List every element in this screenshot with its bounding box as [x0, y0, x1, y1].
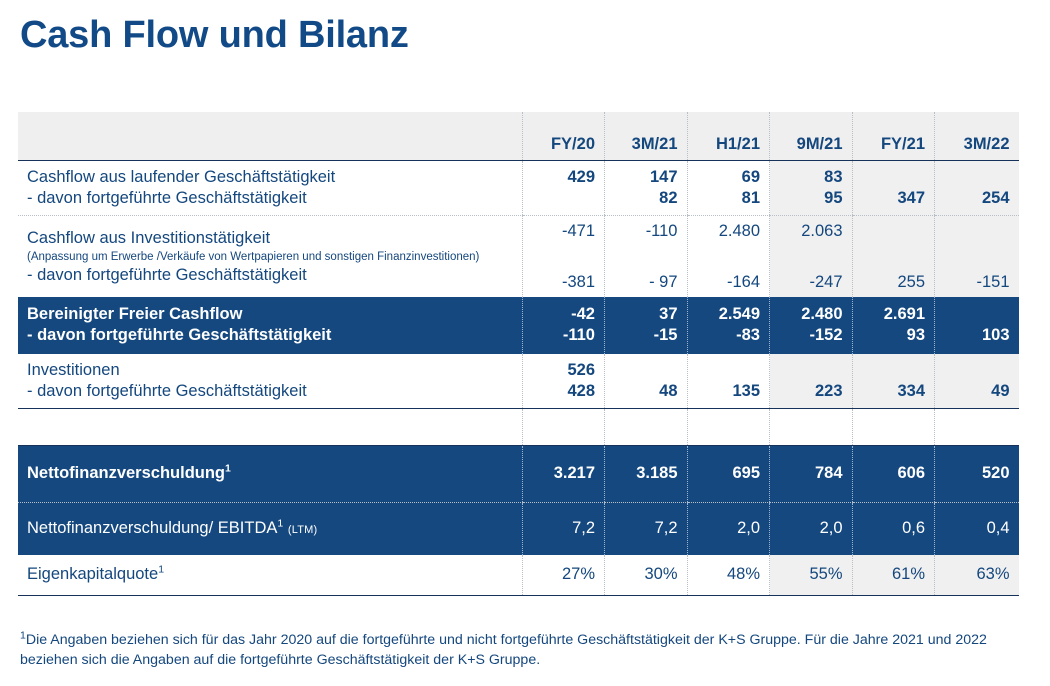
row-label-text: Nettofinanzverschuldung	[27, 464, 225, 482]
cell-equity-ratio-9m21: 55%	[770, 555, 853, 596]
table-row: Eigenkapitalquote1 27% 30% 48% 55% 61% 6…	[18, 555, 1019, 596]
cell-investments-3m21: 48	[605, 354, 688, 409]
value-line2: -151	[935, 272, 1010, 293]
value-line2: 347	[853, 188, 926, 209]
row-label-equity-ratio: Eigenkapitalquote1	[18, 555, 522, 596]
cell-net-debt-3m21: 3.185	[605, 445, 688, 502]
spacer-cell-label	[18, 408, 522, 445]
cell-equity-ratio-3m22: 63%	[935, 555, 1019, 596]
value-line1	[605, 360, 678, 381]
value-line2: 223	[770, 381, 843, 402]
cell-adjusted-free-cashflow-fy21: 2.691 93	[852, 297, 935, 353]
cell-cashflow-operating-h121: 69 81	[687, 161, 770, 216]
value-line2: 254	[935, 188, 1010, 209]
cell-cashflow-operating-3m21: 147 82	[605, 161, 688, 216]
value-line1: 147	[605, 167, 678, 188]
cell-adjusted-free-cashflow-3m21: 37 -15	[605, 297, 688, 353]
financial-table: FY/20 3M/21 H1/21 9M/21 FY/21 3M/22 Cash…	[18, 112, 1019, 596]
cell-net-debt-9m21: 784	[770, 445, 853, 502]
value-line2	[523, 188, 596, 209]
spacer-cell-9m21	[770, 408, 853, 445]
cell-net-debt-ebitda-3m22: 0,4	[935, 502, 1019, 555]
value-line1: 2.063	[770, 221, 843, 242]
row-label-line1: Investitionen	[27, 360, 522, 381]
cell-adjusted-free-cashflow-h121: 2.549 -83	[687, 297, 770, 353]
cell-adjusted-free-cashflow-fy20: -42 -110	[522, 297, 605, 353]
table-row: Bereinigter Freier Cashflow - davon fort…	[18, 297, 1019, 353]
row-label-line1: Cashflow aus Investitionstätigkeit	[27, 228, 522, 249]
cell-investments-h121: 135	[687, 354, 770, 409]
cell-equity-ratio-fy21: 61%	[852, 555, 935, 596]
cell-equity-ratio-3m21: 30%	[605, 555, 688, 596]
row-label-line1: Cashflow aus laufender Geschäftstätigkei…	[27, 167, 522, 188]
value-line2: 428	[523, 381, 596, 402]
value-line2: -247	[770, 272, 843, 293]
footnote-marker: 1	[158, 564, 164, 576]
value-line2: -15	[605, 325, 678, 346]
row-label-cashflow-investing: Cashflow aus Investitionstätigkeit (Anpa…	[18, 216, 522, 298]
value-line1: 526	[523, 360, 596, 381]
cell-cashflow-operating-3m22: 254	[935, 161, 1019, 216]
value-line2: 135	[688, 381, 761, 402]
table-row: Cashflow aus laufender Geschäftstätigkei…	[18, 161, 1019, 216]
cell-cashflow-operating-fy21: 347	[852, 161, 935, 216]
value-line2: -381	[523, 272, 596, 293]
value-line1: 429	[523, 167, 596, 188]
row-label-text: Eigenkapitalquote	[27, 565, 158, 583]
row-label-note: (Anpassung um Erwerbe /Verkäufe von Wert…	[27, 250, 522, 264]
cell-cashflow-operating-9m21: 83 95	[770, 161, 853, 216]
value-line1: 37	[605, 304, 678, 325]
spacer-cell-3m21	[605, 408, 688, 445]
value-line1	[935, 167, 1010, 188]
value-line2: 103	[935, 325, 1010, 346]
cell-net-debt-ebitda-9m21: 2,0	[770, 502, 853, 555]
value-line1	[935, 360, 1010, 381]
cell-adjusted-free-cashflow-9m21: 2.480 -152	[770, 297, 853, 353]
cell-net-debt-ebitda-fy21: 0,6	[852, 502, 935, 555]
cell-net-debt-3m22: 520	[935, 445, 1019, 502]
cell-cashflow-investing-fy21: xx 255	[852, 216, 935, 298]
table-header-row: FY/20 3M/21 H1/21 9M/21 FY/21 3M/22	[18, 112, 1019, 161]
row-label-line2: - davon fortgeführte Geschäftstätigkeit	[27, 381, 522, 402]
value-line2: 93	[853, 325, 926, 346]
row-label-net-debt-ebitda: Nettofinanzverschuldung/ EBITDA1 (LTM)	[18, 502, 522, 555]
footnote-marker: 1	[225, 463, 231, 475]
cell-cashflow-investing-fy20: -471 xx -381	[522, 216, 605, 298]
column-header-3m21: 3M/21	[605, 112, 688, 161]
cell-investments-fy21: 334	[852, 354, 935, 409]
cell-net-debt-fy20: 3.217	[522, 445, 605, 502]
spacer-cell-h121	[687, 408, 770, 445]
row-label-line2: - davon fortgeführte Geschäftstätigkeit	[27, 265, 522, 286]
cell-cashflow-operating-fy20: 429	[522, 161, 605, 216]
row-label-adjusted-free-cashflow: Bereinigter Freier Cashflow - davon fort…	[18, 297, 522, 353]
cell-net-debt-ebitda-fy20: 7,2	[522, 502, 605, 555]
cell-investments-3m22: 49	[935, 354, 1019, 409]
table-row: Nettofinanzverschuldung1 3.217 3.185 695…	[18, 445, 1019, 502]
cell-cashflow-investing-9m21: 2.063 xx -247	[770, 216, 853, 298]
value-line1: 69	[688, 167, 761, 188]
row-label-line2: - davon fortgeführte Geschäftstätigkeit	[27, 325, 522, 346]
value-line2: 81	[688, 188, 761, 209]
value-line1	[853, 167, 926, 188]
row-label-line2: - davon fortgeführte Geschäftstätigkeit	[27, 188, 522, 209]
column-header-9m21: 9M/21	[770, 112, 853, 161]
value-line1: -42	[523, 304, 596, 325]
value-line2: -110	[523, 325, 596, 346]
spacer-cell-3m22	[935, 408, 1019, 445]
table-row: Nettofinanzverschuldung/ EBITDA1 (LTM) 7…	[18, 502, 1019, 555]
value-line2: -83	[688, 325, 761, 346]
page-title: Cash Flow und Bilanz	[20, 14, 409, 57]
cell-cashflow-investing-h121: 2.480 xx -164	[687, 216, 770, 298]
value-line1: 2.480	[770, 304, 843, 325]
value-line1	[853, 221, 926, 242]
column-header-3m22: 3M/22	[935, 112, 1019, 161]
row-label-cashflow-operating: Cashflow aus laufender Geschäftstätigkei…	[18, 161, 522, 216]
value-line1	[770, 360, 843, 381]
value-line2: 255	[853, 272, 926, 293]
footnote-text: Die Angaben beziehen sich für das Jahr 2…	[20, 632, 987, 668]
value-line1	[688, 360, 761, 381]
column-header-h121: H1/21	[687, 112, 770, 161]
cell-investments-9m21: 223	[770, 354, 853, 409]
value-line1: 83	[770, 167, 843, 188]
cell-equity-ratio-fy20: 27%	[522, 555, 605, 596]
value-line2: 48	[605, 381, 678, 402]
column-header-label	[18, 112, 522, 161]
value-line2: 49	[935, 381, 1010, 402]
column-header-fy20: FY/20	[522, 112, 605, 161]
row-label-text: Nettofinanzverschuldung/ EBITDA	[27, 519, 277, 537]
spacer-cell-fy21	[852, 408, 935, 445]
value-line1	[853, 360, 926, 381]
value-line1: -471	[523, 221, 596, 242]
cell-equity-ratio-h121: 48%	[687, 555, 770, 596]
value-line2: -152	[770, 325, 843, 346]
cell-adjusted-free-cashflow-3m22: 103	[935, 297, 1019, 353]
footnote: 1Die Angaben beziehen sich für das Jahr …	[20, 630, 1020, 670]
value-line2: -164	[688, 272, 761, 293]
value-line1: 2.480	[688, 221, 761, 242]
value-line2: 334	[853, 381, 926, 402]
spacer-row	[18, 408, 1019, 445]
cell-cashflow-investing-3m22: xx -151	[935, 216, 1019, 298]
row-label-investments: Investitionen - davon fortgeführte Gesch…	[18, 354, 522, 409]
cell-net-debt-ebitda-3m21: 7,2	[605, 502, 688, 555]
cell-net-debt-ebitda-h121: 2,0	[687, 502, 770, 555]
cell-investments-fy20: 526 428	[522, 354, 605, 409]
value-line1: 2.691	[853, 304, 926, 325]
table-row: Cashflow aus Investitionstätigkeit (Anpa…	[18, 216, 1019, 298]
value-line1: 2.549	[688, 304, 761, 325]
value-line2: 95	[770, 188, 843, 209]
value-line2: 82	[605, 188, 678, 209]
footnote-marker: 1	[277, 518, 283, 530]
financial-table-container: FY/20 3M/21 H1/21 9M/21 FY/21 3M/22 Cash…	[18, 112, 1018, 596]
row-label-suffix: (LTM)	[288, 524, 318, 536]
cell-net-debt-fy21: 606	[852, 445, 935, 502]
table-row: Investitionen - davon fortgeführte Gesch…	[18, 354, 1019, 409]
value-line1: -110	[605, 221, 678, 242]
cell-net-debt-h121: 695	[687, 445, 770, 502]
row-label-net-debt: Nettofinanzverschuldung1	[18, 445, 522, 502]
row-label-line1: Bereinigter Freier Cashflow	[27, 304, 522, 325]
value-line1	[935, 221, 1010, 242]
spacer-cell-fy20	[522, 408, 605, 445]
column-header-fy21: FY/21	[852, 112, 935, 161]
cell-cashflow-investing-3m21: -110 xx - 97	[605, 216, 688, 298]
value-line1	[935, 304, 1010, 325]
value-line2: - 97	[605, 272, 678, 293]
